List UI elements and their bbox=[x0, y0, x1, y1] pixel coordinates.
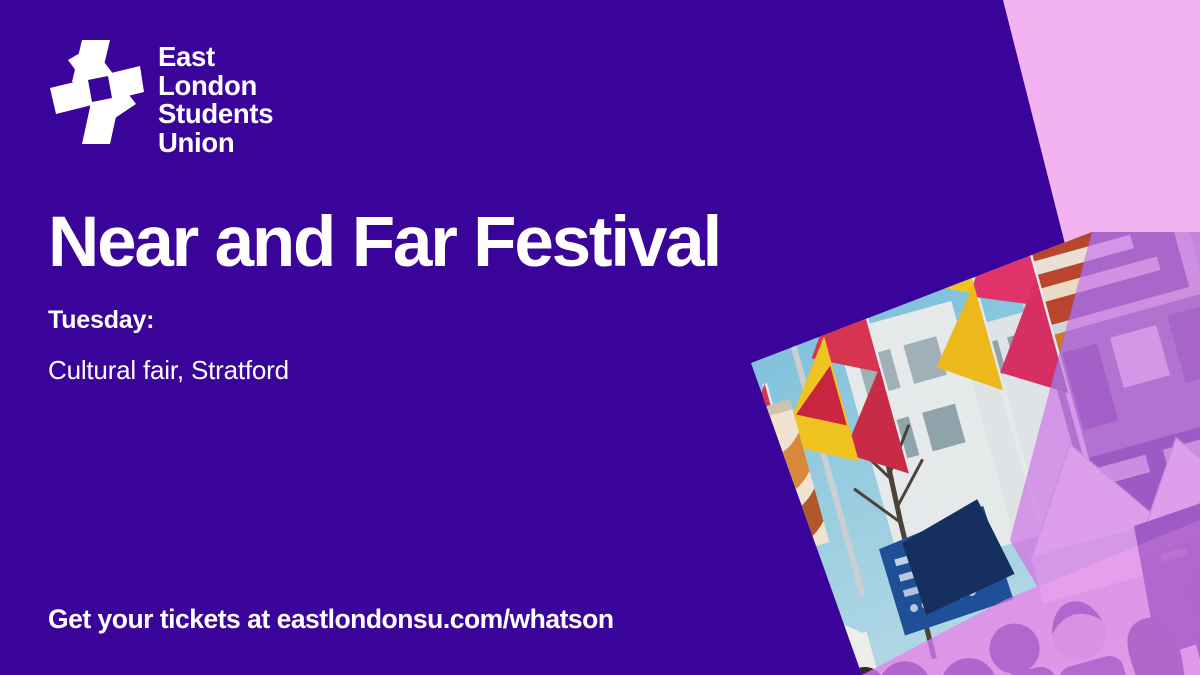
pink-diagonal-wedge bbox=[950, 0, 1200, 290]
logo-line-1: East bbox=[158, 43, 273, 72]
poster-canvas: East London Students Union Near and Far … bbox=[0, 0, 1200, 675]
logo-line-2: London bbox=[158, 72, 273, 101]
logo-line-3: Students bbox=[158, 100, 273, 129]
footer-cta: Get your tickets at eastlondonsu.com/wha… bbox=[48, 604, 614, 635]
elsu-x-star-icon bbox=[48, 36, 144, 148]
logo-line-4: Union bbox=[158, 129, 273, 158]
elsu-logo: East London Students Union bbox=[48, 36, 273, 157]
page-title: Near and Far Festival bbox=[48, 206, 720, 279]
elsu-logo-wordmark: East London Students Union bbox=[158, 36, 273, 157]
magenta-duotone-overlay bbox=[504, 29, 1200, 675]
event-description: Cultural fair, Stratford bbox=[48, 355, 289, 386]
day-label: Tuesday: bbox=[48, 306, 154, 335]
magenta-duotone-footer bbox=[504, 29, 1200, 675]
festival-photo bbox=[504, 29, 1200, 675]
